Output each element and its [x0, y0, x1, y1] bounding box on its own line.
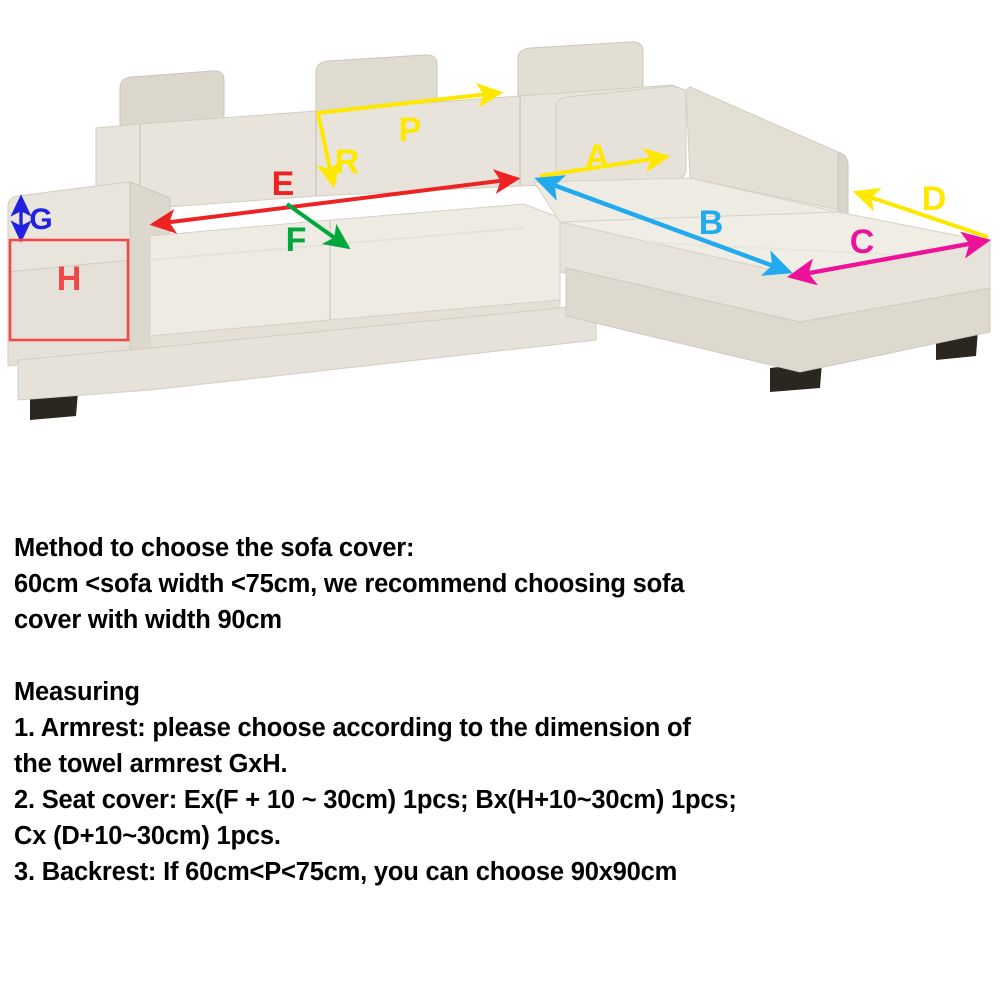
- sofa-illustration: [8, 42, 990, 420]
- instruction-heading: Measuring: [14, 674, 974, 710]
- instruction-line: 1. Armrest: please choose according to t…: [14, 710, 974, 746]
- label-C: C: [850, 223, 875, 261]
- instruction-line: Cx (D+10~30cm) 1pcs.: [14, 818, 974, 854]
- sofa-cover-measuring-guide: P R A D E F G H B C Method to choose the…: [0, 0, 1000, 1000]
- label-H: H: [57, 260, 82, 298]
- sofa-diagram: P R A D E F G H B C: [0, 0, 1000, 500]
- instruction-line: 60cm <sofa width <75cm, we recommend cho…: [14, 566, 974, 602]
- label-R: R: [335, 143, 360, 181]
- label-D: D: [922, 180, 947, 218]
- left-armrest-top: [8, 182, 130, 272]
- label-A: A: [585, 138, 610, 176]
- chaise-backrest: [556, 86, 686, 190]
- instruction-line: 2. Seat cover: Ex(F + 10 ~ 30cm) 1pcs; B…: [14, 782, 974, 818]
- instruction-line: the towel armrest GxH.: [14, 746, 974, 782]
- label-B: B: [699, 204, 724, 242]
- label-F: F: [286, 221, 307, 259]
- label-P: P: [399, 111, 422, 149]
- instruction-line: 3. Backrest: If 60cm<P<75cm, you can cho…: [14, 854, 974, 890]
- instructions-section: Method to choose the sofa cover: 60cm <s…: [0, 500, 1000, 1000]
- instructions-block-measuring: Measuring 1. Armrest: please choose acco…: [14, 674, 974, 890]
- instruction-line: Method to choose the sofa cover:: [14, 530, 974, 566]
- label-G: G: [29, 203, 52, 236]
- instructions-block-method: Method to choose the sofa cover: 60cm <s…: [14, 530, 974, 638]
- label-E: E: [272, 165, 295, 203]
- instruction-line: cover with width 90cm: [14, 602, 974, 638]
